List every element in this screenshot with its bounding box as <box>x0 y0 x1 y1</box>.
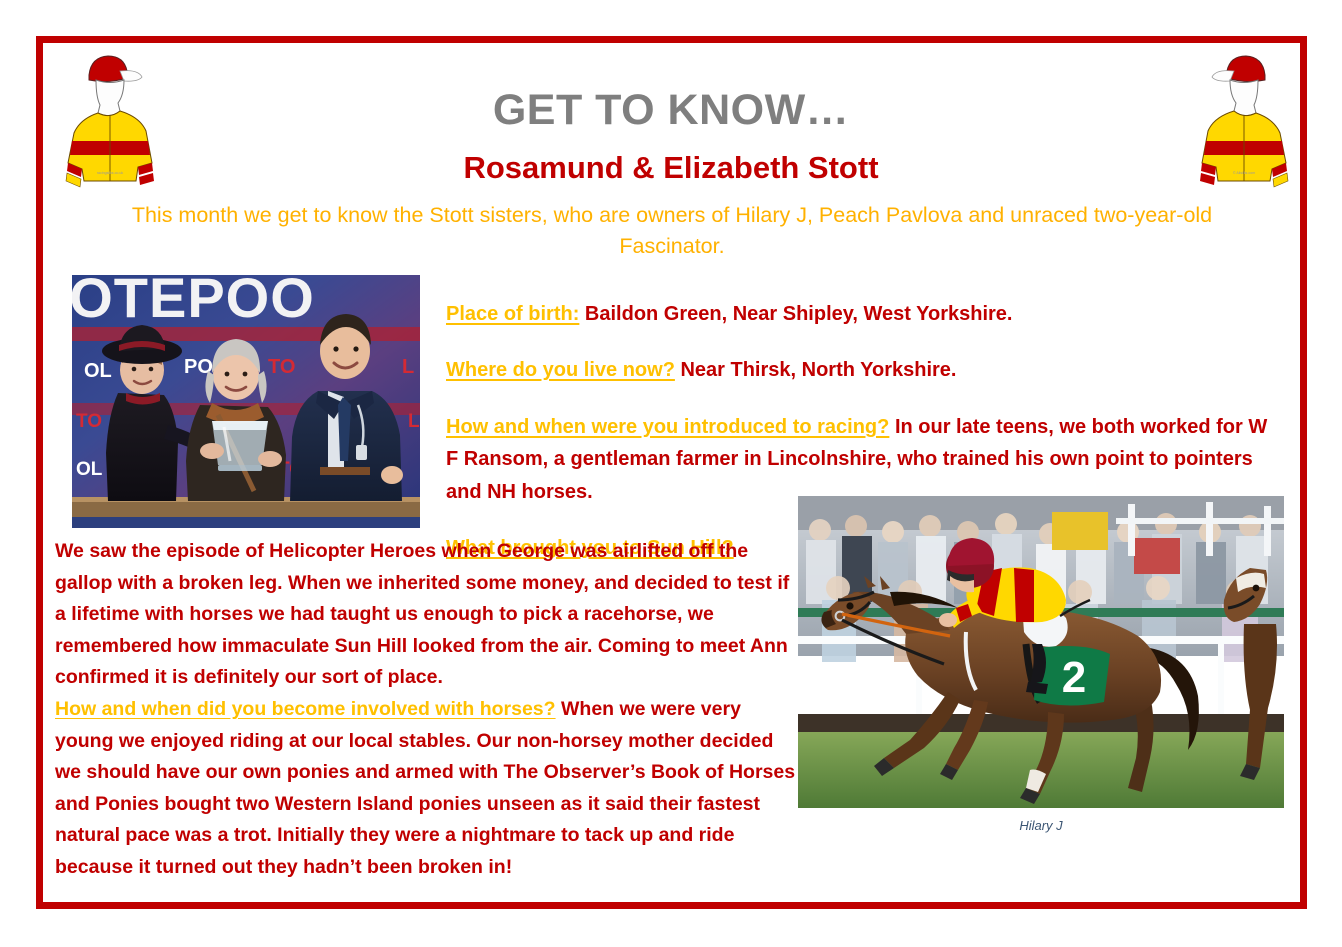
qa-question: Place of birth: <box>446 303 579 325</box>
sun-hill-answer-paragraph: We saw the episode of Helicopter Heroes … <box>55 536 797 694</box>
qa-question: Where do you live now? <box>446 359 675 381</box>
involved-with-horses-block: How and when did you become involved wit… <box>55 694 797 883</box>
svg-text:L: L <box>408 411 420 432</box>
newsletter-page: racingsilks.co.uk © Allsilks.com GET TO … <box>0 0 1342 947</box>
svg-text:TO: TO <box>268 356 295 378</box>
qa-answer: Baildon Green, Near Shipley, West Yorksh… <box>585 303 1013 325</box>
qa-question: How and when were you introduced to raci… <box>446 416 889 438</box>
qa-answer: Near Thirsk, North Yorkshire. <box>680 359 956 381</box>
qa-item-introduced-to-racing: How and when were you introduced to raci… <box>446 411 1274 508</box>
saddle-cloth-number: 2 <box>1062 653 1086 702</box>
intro-paragraph: This month we get to know the Stott sist… <box>86 200 1258 261</box>
svg-text:L: L <box>402 356 414 378</box>
trophy-presentation-photo: OTEPOO OL POO TO L TO L OL TO <box>72 275 420 528</box>
race-photo-caption: Hilary J <box>798 818 1284 833</box>
svg-text:TO: TO <box>76 411 102 432</box>
qa-question: How and when did you become involved wit… <box>55 698 556 720</box>
page-title: GET TO KNOW… <box>0 86 1342 135</box>
qa-item-where-live: Where do you live now? Near Thirsk, Nort… <box>446 354 1274 386</box>
svg-text:OTEPOO: OTEPOO <box>72 275 315 329</box>
qa-column: Place of birth: Baildon Green, Near Ship… <box>446 298 1274 564</box>
svg-text:OL: OL <box>84 360 112 382</box>
page-subtitle: Rosamund & Elizabeth Stott <box>0 150 1342 186</box>
qa-answer: When we were very young we enjoyed ridin… <box>55 698 795 878</box>
qa-item-place-of-birth: Place of birth: Baildon Green, Near Ship… <box>446 298 1274 330</box>
svg-text:OL: OL <box>76 459 103 480</box>
